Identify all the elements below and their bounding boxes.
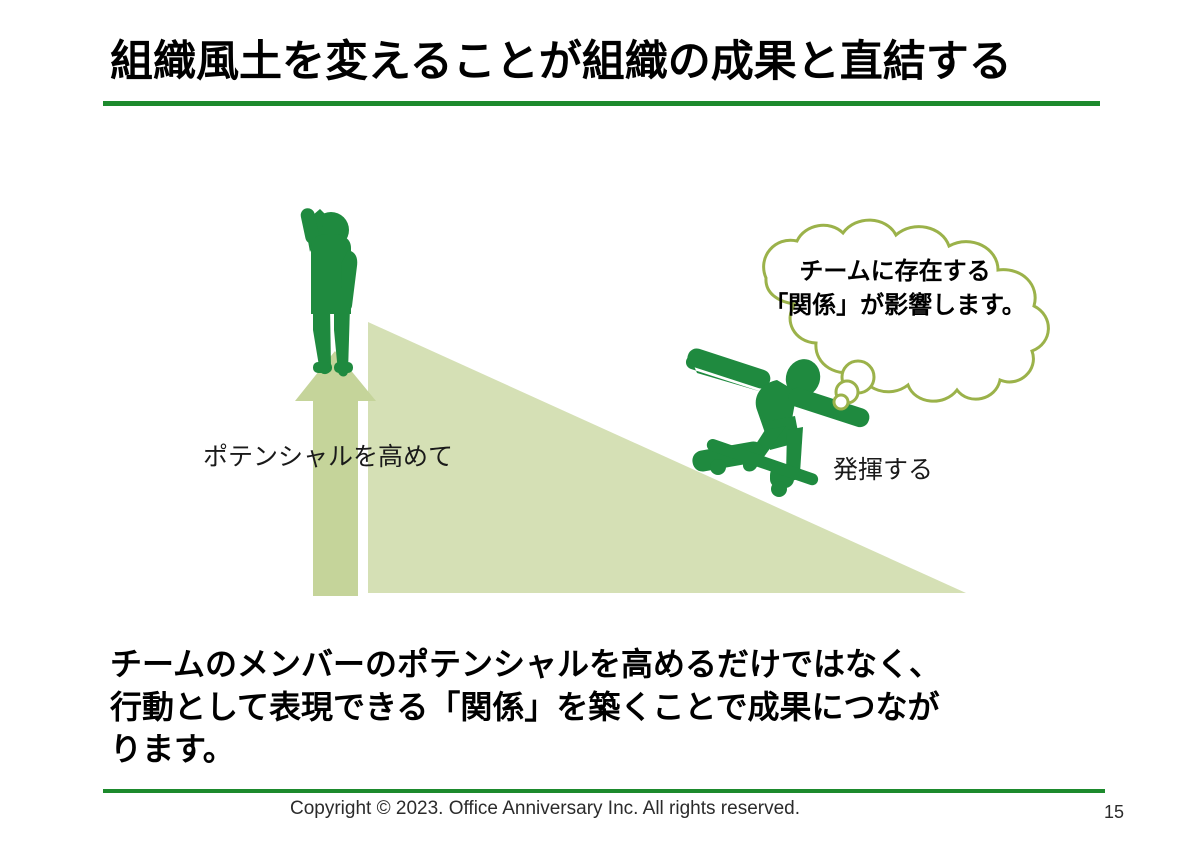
summary-line-3: ります。 [110, 728, 1110, 771]
page-title: 組織風土を変えることが組織の成果と直結する [110, 38, 1110, 86]
summary-text: チームのメンバーのポテンシャルを高めるだけではなく、 行動として表現できる「関係… [110, 643, 1110, 771]
caption-demonstrate: 発揮する [833, 450, 933, 486]
standing-person-arm-raised-icon [299, 207, 357, 377]
diagram-area [0, 130, 1200, 630]
page-number: 15 [1104, 802, 1144, 823]
up-arrow-icon [295, 351, 376, 596]
footer-copyright: Copyright © 2023. Office Anniversary Inc… [0, 798, 1090, 820]
footer-divider [103, 789, 1105, 793]
summary-line-2: 行動として表現できる「関係」を築くことで成果につなが [110, 686, 1110, 729]
caption-potential: ポテンシャルを高めて [203, 437, 453, 473]
thought-bubble-tail-small [834, 395, 848, 409]
summary-line-1: チームのメンバーのポテンシャルを高めるだけではなく、 [110, 643, 1110, 686]
title-divider [103, 101, 1100, 106]
slide-canvas: 組織風土を変えることが組織の成果と直結する [0, 0, 1200, 849]
